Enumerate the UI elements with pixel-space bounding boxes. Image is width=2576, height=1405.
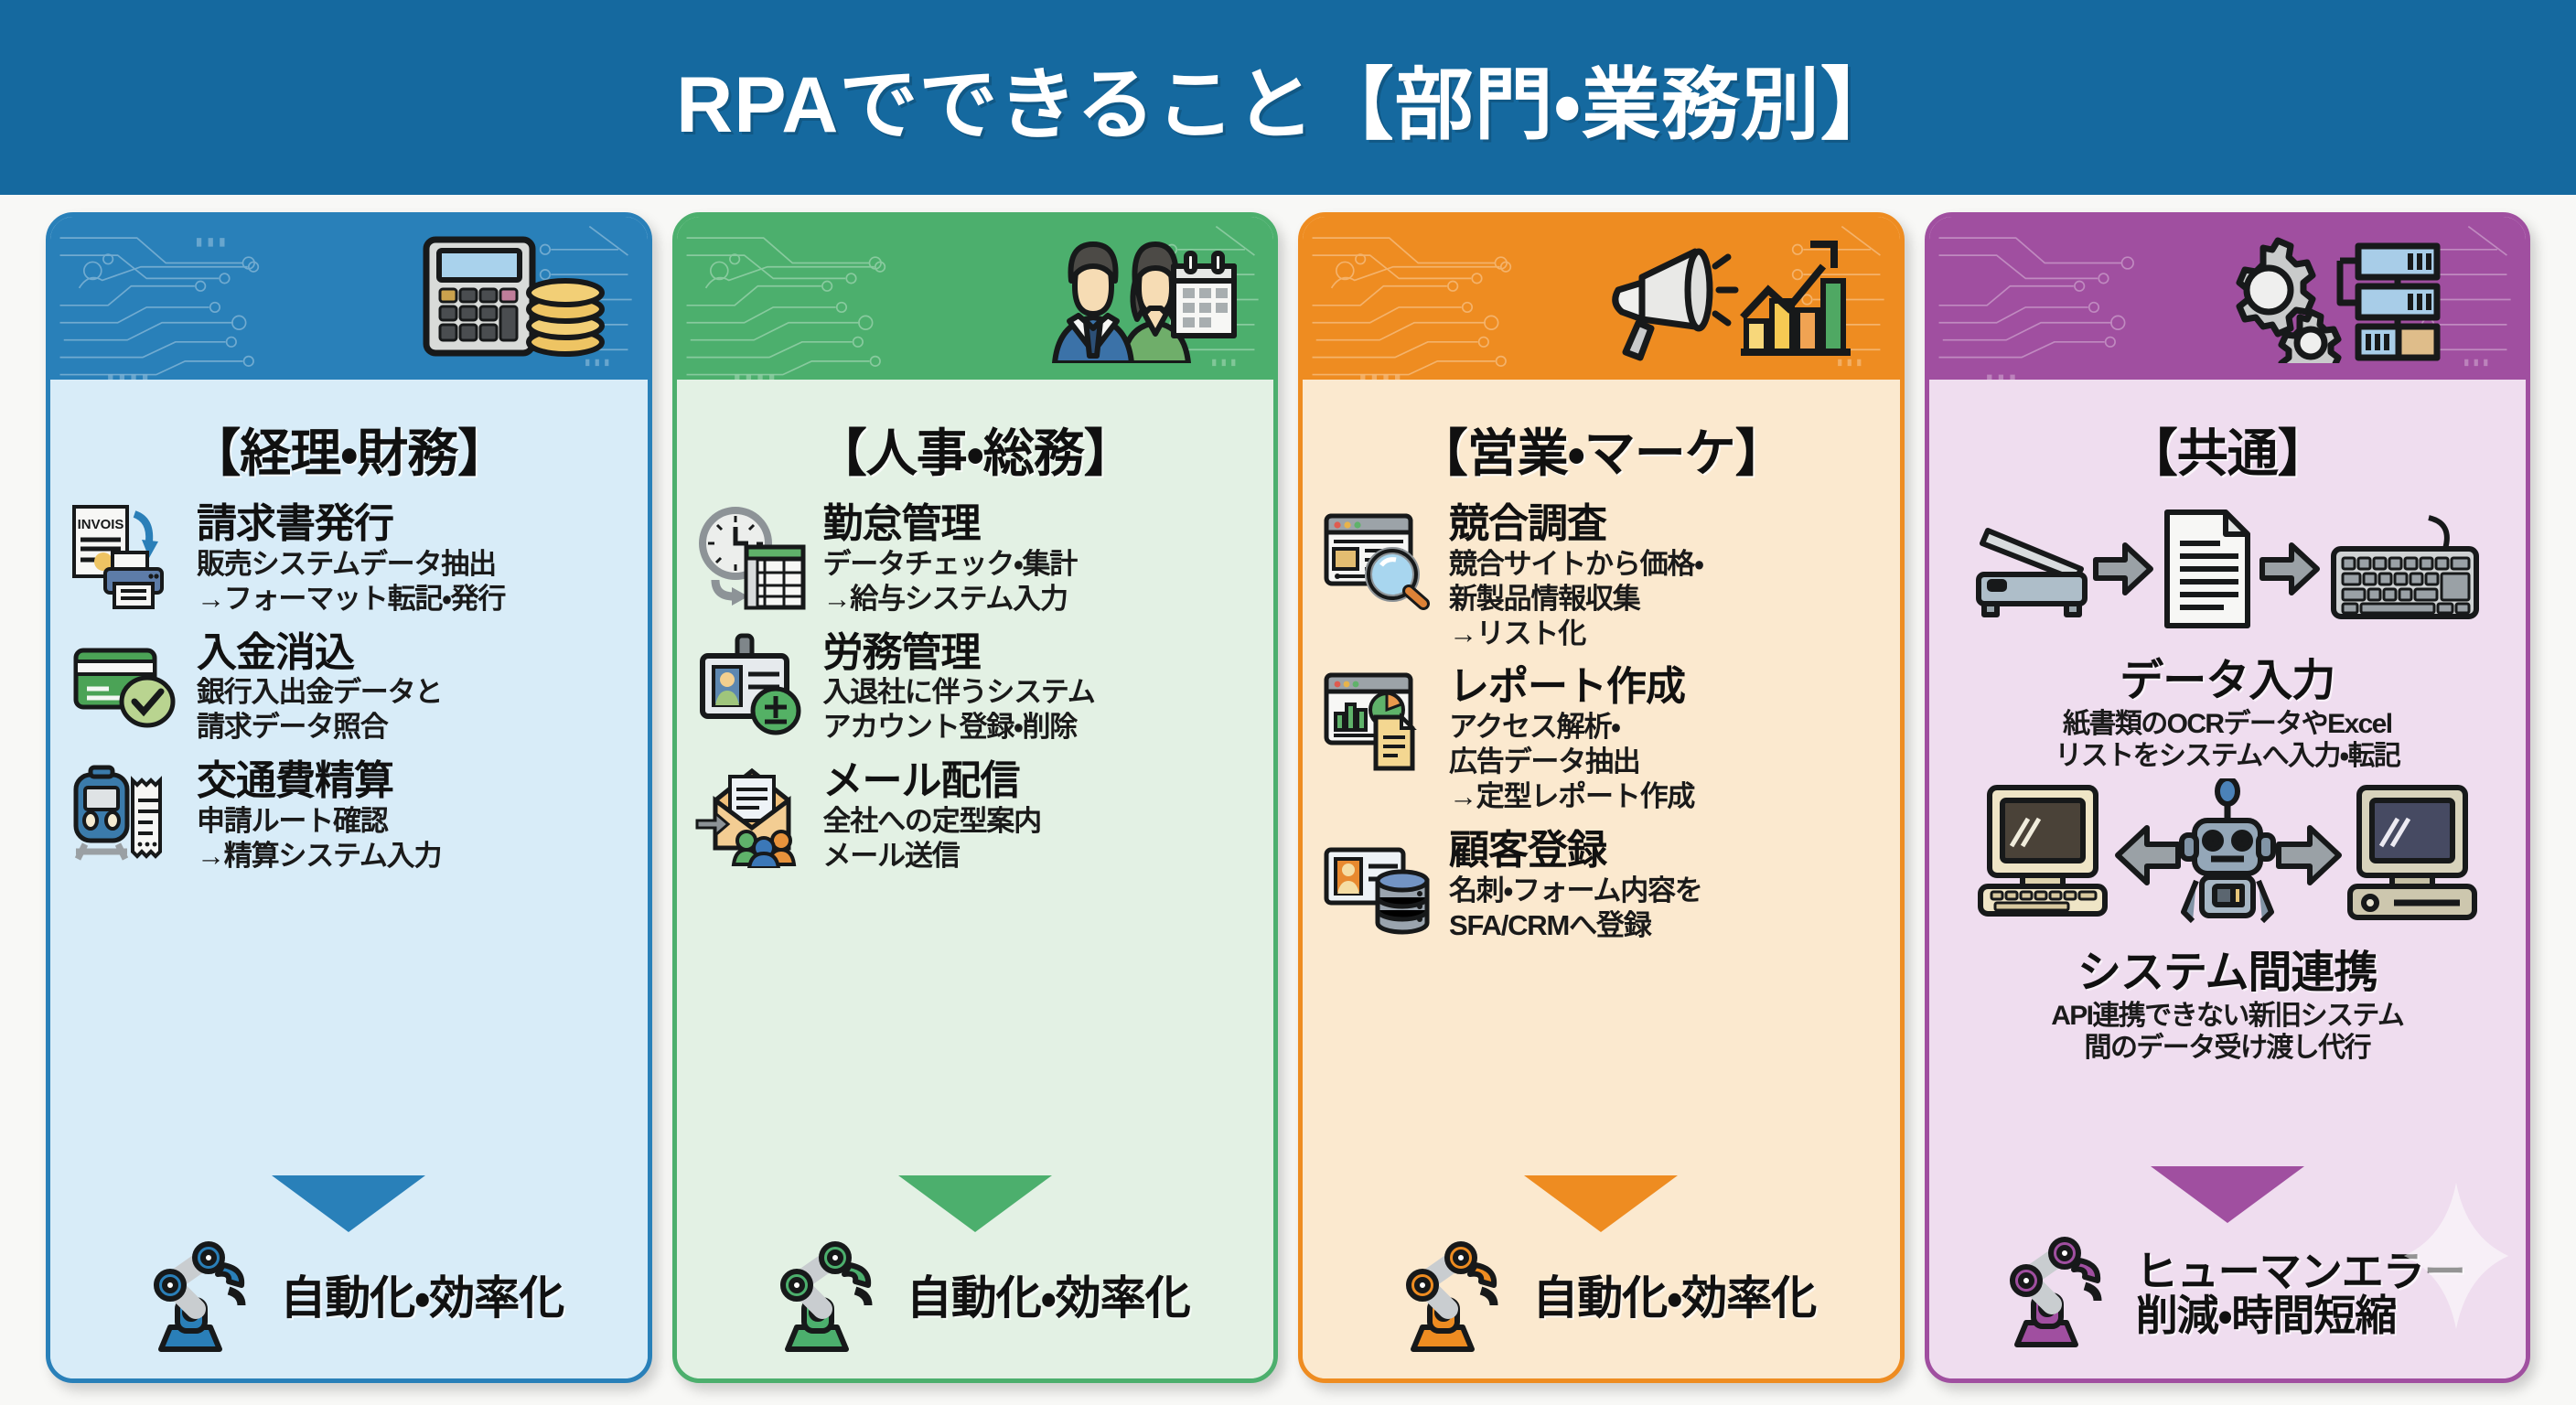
list-item[interactable]: メール配信 全社への定型案内 メール送信 bbox=[695, 760, 1256, 873]
item-text: 勤怠管理 データチェック・集計 →給与システム入力 bbox=[823, 503, 1256, 616]
item-heading: 労務管理 bbox=[823, 632, 1256, 675]
item-list: 競合調査 競合サイトから価格・ 新製品情報収集 →リスト化 bbox=[1321, 503, 1882, 1170]
list-item[interactable]: システム間連携 API連携できない新旧システム 間のデータ受け渡し代行 bbox=[1948, 778, 2508, 1065]
card-body-common: 【共通】 bbox=[1929, 380, 2527, 1378]
robot-arm-icon bbox=[760, 1234, 897, 1362]
list-item[interactable]: 交通費精算 申請ルート確認 →精算システム入力 bbox=[69, 760, 629, 873]
card-footer-hr: 自動化・効率化 bbox=[695, 1170, 1256, 1369]
item-heading: 交通費精算 bbox=[197, 760, 629, 803]
robot-arm-icon bbox=[134, 1234, 271, 1362]
list-item[interactable]: 入金消込 銀行入出金データと 請求データ照合 bbox=[69, 632, 629, 745]
clock-spreadsheet-icon bbox=[695, 503, 810, 611]
item-heading: 競合調査 bbox=[1449, 503, 1882, 546]
item-text: 競合調査 競合サイトから価格・ 新製品情報収集 →リスト化 bbox=[1449, 503, 1882, 649]
item-desc-line-1: データチェック・集計 bbox=[823, 548, 1256, 581]
item-desc-line-1: 販売システムデータ抽出 bbox=[197, 548, 629, 581]
card-footer-accounting: 自動化・効率化 bbox=[69, 1170, 629, 1369]
item-desc-line-1: 競合サイトから価格・ bbox=[1449, 548, 1882, 581]
item-desc-line-2: 請求データ照合 bbox=[197, 711, 629, 744]
card-header-common bbox=[1929, 217, 2527, 380]
block-desc-line-1: 紙書類のOCRデータやExcel bbox=[1948, 708, 2508, 740]
list-item[interactable]: 競合調査 競合サイトから価格・ 新製品情報収集 →リスト化 bbox=[1321, 503, 1882, 649]
block-heading: データ入力 bbox=[1948, 644, 2508, 708]
dashboard-report-icon bbox=[1321, 666, 1436, 774]
down-arrow-icon bbox=[898, 1175, 1052, 1232]
item-heading: メール配信 bbox=[823, 760, 1256, 803]
item-text: 労務管理 入退社に伴うシステム アカウント登録・削除 bbox=[823, 632, 1256, 745]
card-hr[interactable]: 【人事・総務】 bbox=[672, 212, 1279, 1383]
infographic-root: RPAでできること【部門・業務別】 bbox=[0, 0, 2576, 1405]
item-text: 入金消込 銀行入出金データと 請求データ照合 bbox=[197, 632, 629, 745]
item-heading: 請求書発行 bbox=[197, 503, 629, 546]
card-body-accounting: 【経理・財務】 INVOIS bbox=[50, 380, 648, 1378]
item-desc-line-1: 入退社に伴うシステム bbox=[823, 676, 1256, 709]
page-title: RPAでできること【部門・業務別】 bbox=[676, 40, 1900, 155]
id-badge-plus-icon bbox=[695, 632, 810, 740]
gears-servers-icon bbox=[2205, 238, 2442, 359]
footer-label: 自動化・効率化 bbox=[907, 1274, 1190, 1323]
item-desc-line-1: 名刺・フォーム内容を bbox=[1449, 874, 1882, 907]
scanner-doc-keyboard-flow-icon bbox=[1948, 503, 2508, 640]
item-list: INVOIS bbox=[69, 503, 629, 1170]
item-heading: レポート作成 bbox=[1449, 666, 1882, 709]
mail-group-icon bbox=[695, 760, 810, 868]
card-common[interactable]: 【共通】 bbox=[1925, 212, 2531, 1383]
item-desc-line-1: 銀行入出金データと bbox=[197, 676, 629, 709]
down-arrow-icon bbox=[2151, 1166, 2304, 1223]
browser-magnifier-icon bbox=[1321, 503, 1436, 611]
list-item[interactable]: 顧客登録 名刺・フォーム内容を SFA/CRMへ登録 bbox=[1321, 830, 1882, 942]
item-desc-line-2: SFA/CRMへ登録 bbox=[1449, 909, 1882, 942]
robot-arm-icon bbox=[1386, 1234, 1523, 1362]
card-header-hr bbox=[677, 217, 1274, 380]
svg-text:INVOIS: INVOIS bbox=[78, 517, 124, 532]
sparkle-icon bbox=[2401, 1183, 2511, 1329]
block-heading: システム間連携 bbox=[1948, 936, 2508, 1000]
item-desc-line-2: 広告データ抽出 bbox=[1449, 745, 1882, 778]
down-arrow-icon bbox=[272, 1175, 425, 1232]
card-header-accounting bbox=[50, 217, 648, 380]
item-desc-line-2: 新製品情報収集 bbox=[1449, 583, 1882, 616]
card-header-sales-marketing bbox=[1303, 217, 1900, 380]
item-text: レポート作成 アクセス解析・ 広告データ抽出 →定型レポート作成 bbox=[1449, 666, 1882, 812]
list-item[interactable]: 勤怠管理 データチェック・集計 →給与システム入力 bbox=[695, 503, 1256, 616]
card-title: 【人事・総務】 bbox=[695, 413, 1256, 487]
two-computers-robot-icon bbox=[1948, 778, 2508, 932]
footer-label: 自動化・効率化 bbox=[280, 1274, 563, 1323]
footer-label: 自動化・効率化 bbox=[1532, 1274, 1816, 1323]
item-heading: 入金消込 bbox=[197, 632, 629, 675]
down-arrow-icon bbox=[1524, 1175, 1678, 1232]
item-desc-line-2: メール送信 bbox=[823, 840, 1256, 873]
card-sales-marketing[interactable]: 【営業・マーケ】 bbox=[1298, 212, 1905, 1383]
card-body-hr: 【人事・総務】 bbox=[677, 380, 1274, 1378]
card-grid: 【経理・財務】 INVOIS bbox=[0, 212, 2576, 1383]
item-text: 請求書発行 販売システムデータ抽出 →フォーマット転記・発行 bbox=[197, 503, 629, 616]
item-desc-line-2: →フォーマット転記・発行 bbox=[197, 583, 629, 616]
block-desc-line-2: 間のデータ受け渡し代行 bbox=[1948, 1032, 2508, 1064]
list-item[interactable]: レポート作成 アクセス解析・ 広告データ抽出 →定型レポート作成 bbox=[1321, 666, 1882, 812]
item-desc-line-1: アクセス解析・ bbox=[1449, 711, 1882, 744]
item-text: メール配信 全社への定型案内 メール送信 bbox=[823, 760, 1256, 873]
business-card-database-icon bbox=[1321, 830, 1436, 938]
item-text: 交通費精算 申請ルート確認 →精算システム入力 bbox=[197, 760, 629, 873]
card-body-sales-marketing: 【営業・マーケ】 bbox=[1303, 380, 1900, 1378]
train-receipt-icon bbox=[69, 760, 184, 868]
block-desc-line-2: リストをシステムへ入力・転記 bbox=[1948, 740, 2508, 772]
item-heading: 顧客登録 bbox=[1449, 830, 1882, 873]
page-title-bar: RPAでできること【部門・業務別】 bbox=[0, 0, 2576, 195]
card-title: 【共通】 bbox=[1948, 413, 2508, 487]
block-desc-line-1: API連携できない新旧システム bbox=[1948, 1000, 2508, 1032]
item-desc-line-2: →給与システム入力 bbox=[823, 583, 1256, 616]
item-desc-line-3: →リスト化 bbox=[1449, 617, 1882, 650]
megaphone-growth-chart-icon bbox=[1607, 238, 1863, 359]
card-footer-sales-marketing: 自動化・効率化 bbox=[1321, 1170, 1882, 1369]
card-title: 【経理・財務】 bbox=[69, 413, 629, 487]
list-item[interactable]: INVOIS bbox=[69, 503, 629, 616]
invoice-printer-icon: INVOIS bbox=[69, 503, 184, 611]
item-list: データ入力 紙書類のOCRデータやExcel リストをシステムへ入力・転記 bbox=[1948, 503, 2508, 1161]
card-accounting[interactable]: 【経理・財務】 INVOIS bbox=[46, 212, 652, 1383]
item-heading: 勤怠管理 bbox=[823, 503, 1256, 546]
credit-card-check-icon bbox=[69, 632, 184, 740]
list-item[interactable]: 労務管理 入退社に伴うシステム アカウント登録・削除 bbox=[695, 632, 1256, 745]
item-desc-line-2: →精算システム入力 bbox=[197, 840, 629, 873]
people-calendar-icon bbox=[1027, 238, 1238, 359]
robot-arm-icon bbox=[1990, 1225, 2127, 1362]
item-text: 顧客登録 名刺・フォーム内容を SFA/CRMへ登録 bbox=[1449, 830, 1882, 942]
card-title: 【営業・マーケ】 bbox=[1321, 413, 1882, 487]
list-item[interactable]: データ入力 紙書類のOCRデータやExcel リストをシステムへ入力・転記 bbox=[1948, 503, 2508, 773]
item-desc-line-3: →定型レポート作成 bbox=[1449, 780, 1882, 813]
calculator-and-coins-icon bbox=[419, 238, 611, 359]
item-desc-line-2: アカウント登録・削除 bbox=[823, 711, 1256, 744]
item-desc-line-1: 申請ルート確認 bbox=[197, 805, 629, 838]
item-desc-line-1: 全社への定型案内 bbox=[823, 805, 1256, 838]
item-list: 勤怠管理 データチェック・集計 →給与システム入力 bbox=[695, 503, 1256, 1170]
